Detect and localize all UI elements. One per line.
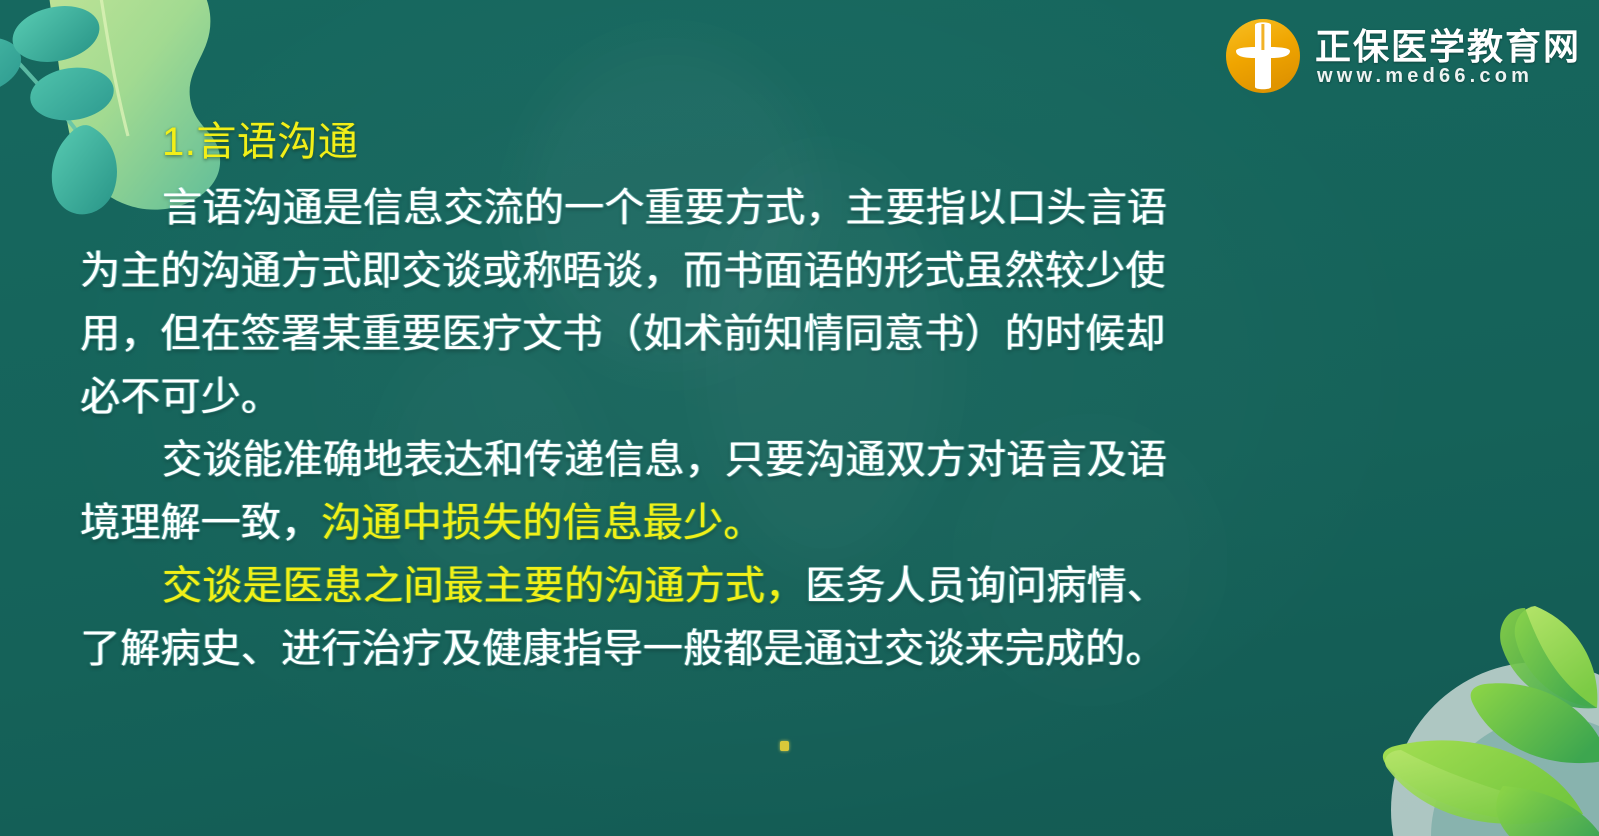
brand-logo: 正保医学教育网 www.med66.com — [1224, 12, 1581, 100]
highlighted-text-run: 沟通中损失的信息最少。 — [321, 501, 763, 545]
page-title: 1.言语沟通 — [80, 118, 1170, 167]
highlighted-text-run: 交谈是医患之间最主要的沟通方式， — [162, 564, 805, 608]
brand-url: www.med66.com — [1315, 66, 1581, 86]
paragraph-2: 交谈能准确地表达和传递信息，只要沟通双方对语言及语境理解一致，沟通中损失的信息最… — [80, 429, 1170, 555]
laser-pointer-dot — [780, 741, 789, 751]
paragraph-3: 交谈是医患之间最主要的沟通方式，医务人员询问病情、了解病史、进行治疗及健康指导一… — [80, 555, 1170, 681]
brand-name-cn: 正保医学教育网 — [1315, 29, 1581, 65]
green-leaves-icon — [1289, 600, 1599, 836]
slide-canvas: 正保医学教育网 www.med66.com 1.言语沟通 言语沟通是信息交流的一… — [0, 0, 1599, 836]
paragraph-1: 言语沟通是信息交流的一个重要方式，主要指以口头言语为主的沟通方式即交谈或称晤谈，… — [80, 177, 1170, 429]
medical-cross-circle-icon — [1224, 17, 1302, 95]
text-run: 言语沟通是信息交流的一个重要方式，主要指以口头言语为主的沟通方式即交谈或称晤谈，… — [80, 186, 1167, 419]
slide-content: 1.言语沟通 言语沟通是信息交流的一个重要方式，主要指以口头言语为主的沟通方式即… — [80, 118, 1170, 681]
